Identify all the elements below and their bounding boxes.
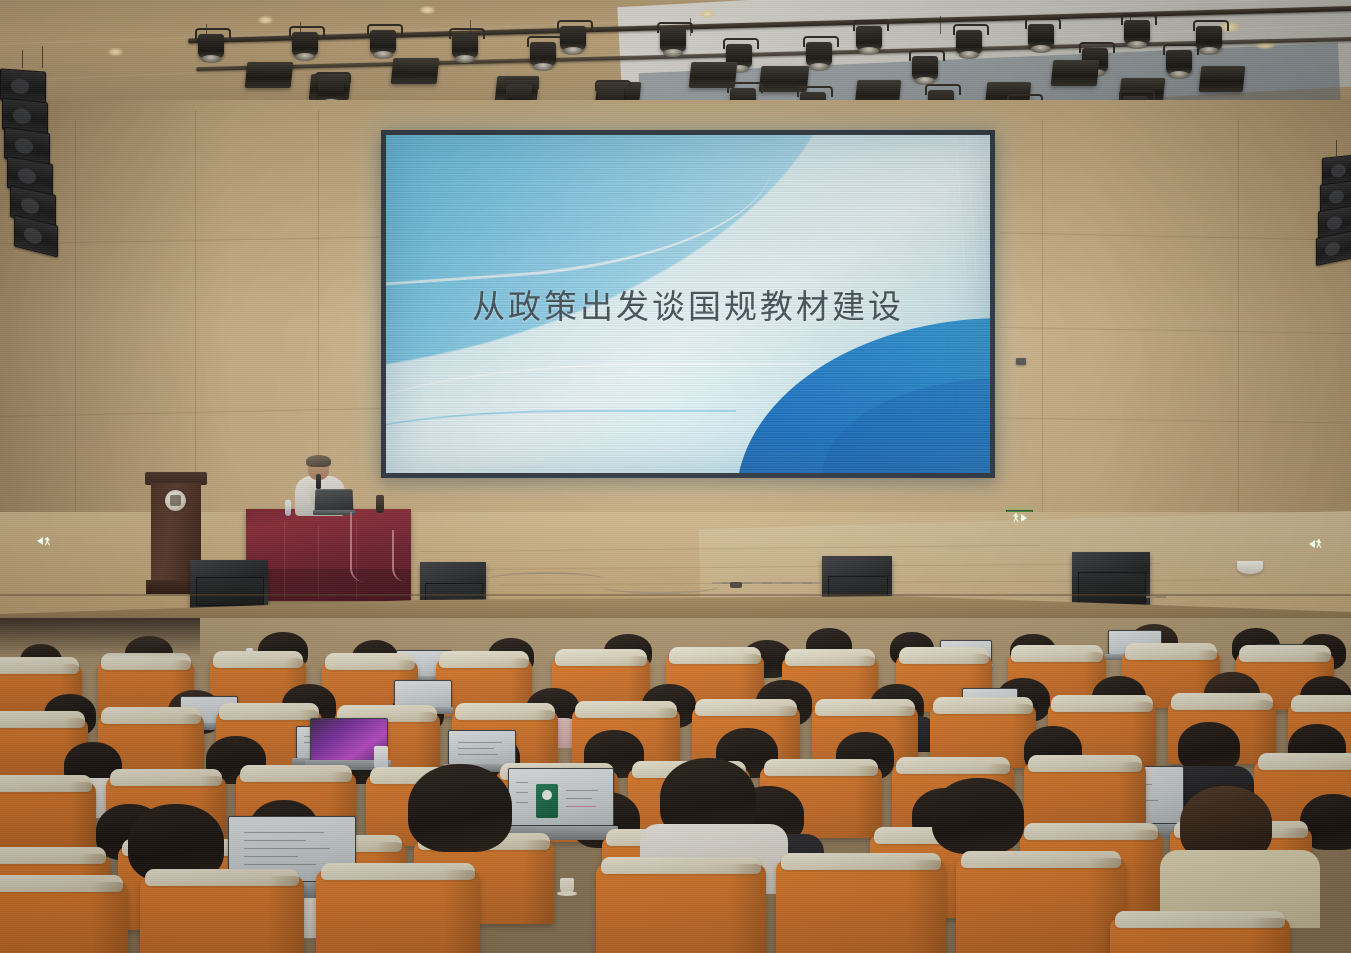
stage-light-fresnel — [1199, 66, 1246, 92]
stage-light-parcan — [956, 30, 982, 54]
stage-bowl-object — [1237, 561, 1263, 574]
audience-seat[interactable] — [776, 860, 946, 953]
presenter-hair — [306, 455, 331, 467]
audience-seat[interactable] — [316, 870, 480, 953]
stage-floor-monitor — [1072, 552, 1150, 608]
ceiling-downlight — [420, 6, 435, 14]
stage-light-parcan — [1196, 26, 1222, 50]
stage-light-parcan — [560, 26, 586, 50]
stage-cable — [1146, 596, 1166, 598]
ceiling-downlight — [258, 16, 273, 24]
stage-light-parcan — [912, 56, 938, 80]
audience-member — [932, 778, 1024, 854]
audience-laptop-wechat[interactable] — [508, 768, 612, 840]
stage-light-parcan — [856, 26, 882, 50]
stage-light-parcan — [1124, 20, 1150, 44]
stage-light-parcan — [530, 42, 556, 66]
auditorium-photograph: 从政策出发谈国规教材建设 — [0, 0, 1351, 953]
stage-light-parcan — [660, 28, 686, 52]
laptop-lid — [315, 489, 354, 511]
exit-arrow-icon — [1309, 540, 1315, 548]
slide-title: 从政策出发谈国规教材建设 — [386, 280, 990, 328]
exit-arrow-icon — [37, 537, 43, 545]
stage-light-parcan — [370, 30, 396, 54]
stage-light-parcan — [292, 32, 318, 56]
wall-panel-seam — [1238, 120, 1239, 530]
power-cable — [392, 530, 414, 582]
smartphone[interactable] — [374, 746, 388, 768]
audience-shadow — [0, 618, 200, 658]
audience-seat[interactable] — [0, 882, 128, 953]
stage-floor-monitor — [190, 560, 268, 608]
handheld-microphone — [316, 474, 321, 489]
audience-member — [1178, 722, 1240, 772]
paper-cup — [560, 878, 574, 893]
presenter-table — [246, 509, 411, 601]
exit-arrow-icon — [1021, 514, 1027, 522]
presenter-laptop[interactable] — [313, 489, 355, 515]
stage-light-fresnel — [391, 58, 440, 84]
thermos-flask — [376, 495, 384, 513]
audience-seat[interactable] — [0, 782, 96, 854]
audience-seat[interactable] — [596, 864, 766, 953]
audience-seat[interactable] — [140, 876, 304, 953]
university-seal-emblem — [165, 490, 186, 511]
audience-seat[interactable] — [1110, 918, 1290, 953]
wall-panel-seam — [195, 110, 196, 520]
stage-light-parcan — [198, 34, 224, 58]
wall-panel-seam — [1042, 120, 1043, 540]
ceiling-downlight — [700, 10, 715, 18]
stage-edge — [0, 594, 1351, 596]
audience-seat[interactable] — [956, 858, 1126, 953]
stage-cable — [712, 582, 822, 584]
laptop-base — [313, 510, 355, 515]
wall-panel-seam — [318, 110, 319, 470]
stage-light-parcan — [1166, 50, 1192, 74]
ceiling-downlight — [108, 48, 123, 56]
stage-light-fresnel — [1051, 60, 1100, 86]
wall-mounted-camera — [1016, 358, 1026, 365]
stage-light-parcan — [318, 78, 344, 102]
stage-light-parcan — [452, 34, 478, 58]
wall-panel-seam — [75, 120, 76, 550]
power-cable — [350, 512, 372, 582]
slide-wave-line — [386, 410, 736, 473]
stage-cable — [486, 572, 606, 588]
audience-seating — [0, 618, 1351, 953]
slide-thin-lines — [737, 135, 990, 293]
stage-light-fresnel — [245, 62, 294, 88]
water-bottle — [285, 500, 291, 516]
truss-wire — [940, 16, 941, 34]
led-projection-screen[interactable]: 从政策出发谈国规教材建设 — [381, 130, 995, 478]
cable-connector — [730, 582, 742, 588]
stage-light-parcan — [806, 42, 832, 66]
audience-member — [408, 764, 512, 852]
stage-light-parcan — [1028, 24, 1054, 48]
slide-wave-line — [386, 135, 777, 288]
stage-cable — [600, 578, 720, 594]
